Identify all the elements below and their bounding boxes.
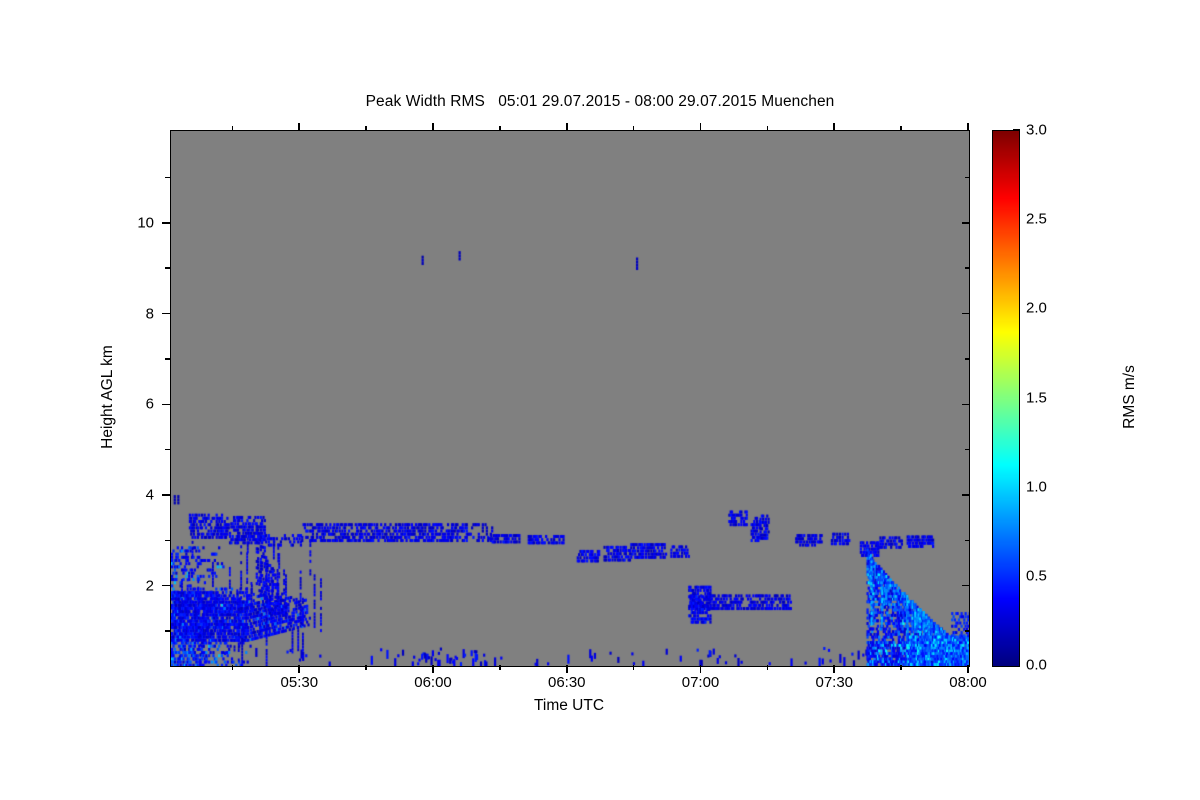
y-tick-major-right xyxy=(962,313,970,315)
y-tick-major-right xyxy=(962,222,970,224)
x-tick-major xyxy=(566,665,568,673)
y-tick-minor-right xyxy=(965,540,970,542)
colorbar-tick-label: 1.0 xyxy=(1026,478,1047,495)
x-tick-minor xyxy=(900,665,902,670)
y-tick-minor-right xyxy=(965,267,970,269)
y-tick-major xyxy=(162,222,170,224)
colorbar-tick-label: 0.0 xyxy=(1026,657,1047,674)
y-tick-minor xyxy=(165,358,170,360)
x-tick-major-top xyxy=(432,123,434,131)
y-tick-minor xyxy=(165,177,170,179)
x-tick-label: 05:30 xyxy=(281,674,319,691)
x-axis-label: Time UTC xyxy=(170,697,968,715)
y-tick-minor-right xyxy=(965,630,970,632)
x-tick-major-top xyxy=(967,123,969,131)
y-tick-major-right xyxy=(962,404,970,406)
y-tick-major xyxy=(162,494,170,496)
x-tick-major xyxy=(432,665,434,673)
page-title: Peak Width RMS 05:01 29.07.2015 - 08:00 … xyxy=(0,93,1200,111)
x-tick-minor-top xyxy=(633,126,635,131)
x-tick-label: 07:30 xyxy=(815,674,853,691)
colorbar-tick-label: 2.5 xyxy=(1026,211,1047,228)
x-tick-major-top xyxy=(566,123,568,131)
x-tick-label: 08:00 xyxy=(949,674,987,691)
y-tick-minor-right xyxy=(965,449,970,451)
x-tick-major xyxy=(700,665,702,673)
plot-area xyxy=(170,130,970,667)
x-tick-label: 06:00 xyxy=(414,674,452,691)
x-tick-minor xyxy=(499,665,501,670)
y-tick-major xyxy=(162,313,170,315)
y-tick-minor-right xyxy=(965,177,970,179)
x-tick-label: 07:00 xyxy=(682,674,720,691)
y-tick-label: 10 xyxy=(137,214,154,231)
colorbar-tick-label: 1.5 xyxy=(1026,389,1047,406)
y-tick-minor xyxy=(165,449,170,451)
x-tick-major xyxy=(967,665,969,673)
x-tick-minor-top xyxy=(232,126,234,131)
y-tick-label: 4 xyxy=(146,486,154,503)
x-tick-major xyxy=(298,665,300,673)
y-tick-minor xyxy=(165,540,170,542)
colorbar-tick-label: 0.5 xyxy=(1026,567,1047,584)
y-axis-label: Height AGL km xyxy=(99,287,117,507)
x-tick-minor-top xyxy=(767,126,769,131)
x-tick-major-top xyxy=(298,123,300,131)
x-tick-minor xyxy=(232,665,234,670)
x-tick-major-top xyxy=(700,123,702,131)
x-tick-minor-top xyxy=(900,126,902,131)
x-tick-label: 06:30 xyxy=(548,674,586,691)
x-tick-minor xyxy=(633,665,635,670)
x-tick-minor-top xyxy=(499,126,501,131)
x-tick-major-top xyxy=(833,123,835,131)
figure-canvas: Peak Width RMS 05:01 29.07.2015 - 08:00 … xyxy=(0,0,1200,800)
y-tick-minor xyxy=(165,267,170,269)
y-tick-minor-right xyxy=(965,358,970,360)
y-tick-minor xyxy=(165,630,170,632)
colorbar-label: RMS m/s xyxy=(1121,327,1139,467)
x-tick-minor xyxy=(365,665,367,670)
colorbar-tick-label: 3.0 xyxy=(1026,122,1047,139)
colorbar xyxy=(992,130,1020,667)
y-tick-label: 2 xyxy=(146,577,154,594)
y-tick-major-right xyxy=(962,494,970,496)
colorbar-tick-label: 2.0 xyxy=(1026,300,1047,317)
y-tick-label: 8 xyxy=(146,305,154,322)
y-tick-label: 6 xyxy=(146,396,154,413)
y-tick-major xyxy=(162,585,170,587)
y-tick-major-right xyxy=(962,585,970,587)
x-tick-minor xyxy=(767,665,769,670)
colorbar-gradient xyxy=(993,131,1019,666)
x-tick-major xyxy=(833,665,835,673)
heatmap-canvas xyxy=(171,131,969,666)
y-tick-major xyxy=(162,404,170,406)
x-tick-minor-top xyxy=(365,126,367,131)
